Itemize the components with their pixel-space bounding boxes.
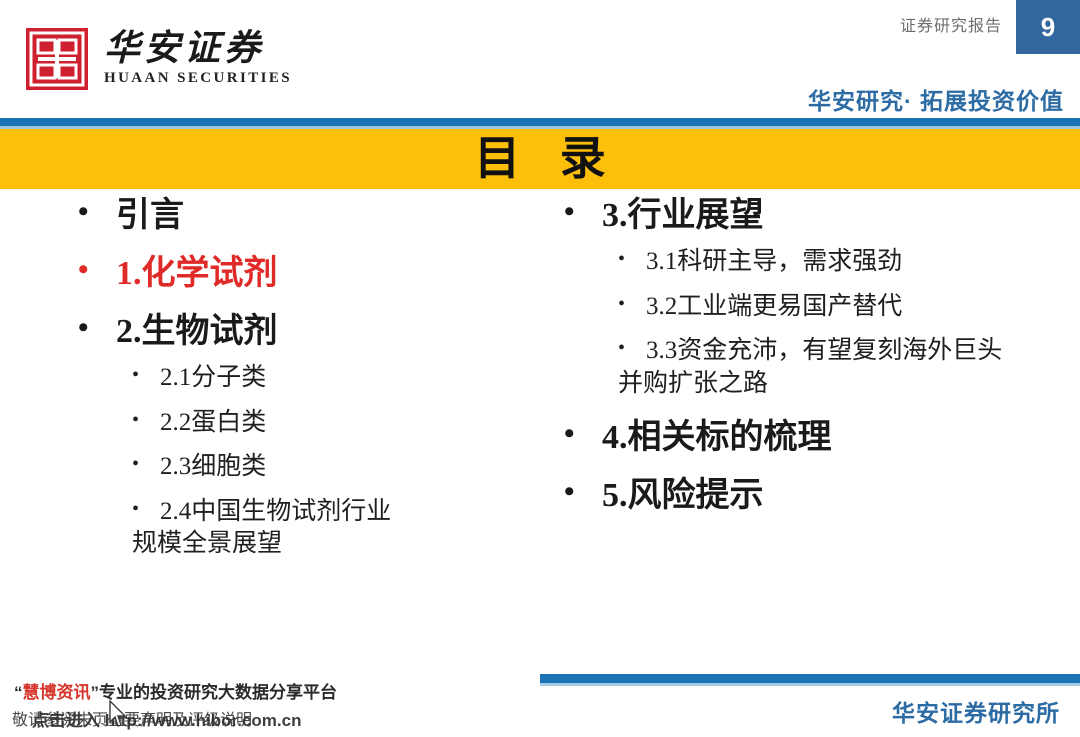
toc-subitem-label: 2.3细胞类 [160,453,266,480]
toc-item-label: 1.化学试剂 [116,255,278,292]
toc-item-label: 5.风险提示 [602,477,764,514]
toc-item-industry-outlook[interactable]: 3.行业展望 3.1科研主导，需求强劲 3.2工业端更易国产替代 3.3资金充沛… [556,196,1066,400]
toc-subitem-label: 2.1分子类 [160,364,266,391]
toc-subitem-industrial-substitution[interactable]: 3.2工业端更易国产替代 [602,291,1066,324]
toc-item-chemical-reagents[interactable]: 1.化学试剂 [70,254,550,294]
toc-item-intro[interactable]: 引言 [70,196,550,236]
toc-subitem-label: 3.2工业端更易国产替代 [646,293,902,320]
page-number-badge: 9 [1016,0,1080,54]
toc-item-label: 2.生物试剂 [116,313,278,350]
toc-sublist-industry-outlook: 3.1科研主导，需求强劲 3.2工业端更易国产替代 3.3资金充沛，有望复刻海外… [602,246,1066,400]
footer-institution: 华安证券研究所 [892,694,1060,728]
mouse-cursor-icon [108,700,128,730]
watermark-quote-close: ” [91,683,100,702]
toc-subitem-molecular[interactable]: 2.1分子类 [116,362,550,395]
slide-root: 华安证券 HUAAN SECURITIES 证券研究报告 9 华安研究· 拓展投… [0,0,1080,737]
toc-list-left: 引言 1.化学试剂 2.生物试剂 2.1分子类 2.2蛋白类 [70,196,550,561]
toc-columns: 引言 1.化学试剂 2.生物试剂 2.1分子类 2.2蛋白类 [0,196,1080,666]
toc-list-right: 3.行业展望 3.1科研主导，需求强劲 3.2工业端更易国产替代 3.3资金充沛… [556,196,1066,516]
watermark-brand-line: “慧博资讯”专业的投资研究大数据分享平台 [14,678,337,703]
logo-company-name-en: HUAAN SECURITIES [104,70,292,87]
toc-subitem-cell[interactable]: 2.3细胞类 [116,451,550,484]
toc-subitem-label-line2: 并购扩张之路 [618,368,1066,401]
page-title: 目 录 [460,136,620,182]
toc-subitem-label: 3.3资金充沛，有望复刻海外巨头 [646,337,1002,364]
toc-right-column: 3.行业展望 3.1科研主导，需求强劲 3.2工业端更易国产替代 3.3资金充沛… [556,196,1066,534]
toc-left-column: 引言 1.化学试剂 2.生物试剂 2.1分子类 2.2蛋白类 [70,196,550,579]
watermark-link[interactable]: 点击进入 http://www.hibor.com.cn [32,706,301,731]
footer-blue-rule [540,674,1080,683]
logo-text-block: 华安证券 HUAAN SECURITIES [104,28,292,87]
toc-item-label: 4.相关标的梳理 [602,419,832,456]
toc-sublist-bio-reagents: 2.1分子类 2.2蛋白类 2.3细胞类 2.4中国生物试剂行业 规模全景展望 [116,362,550,561]
toc-subitem-market-outlook[interactable]: 2.4中国生物试剂行业 规模全景展望 [116,496,550,561]
toc-subitem-label: 3.1科研主导，需求强劲 [646,248,902,275]
logo-company-name-cn: 华安证券 [104,30,292,68]
huaan-seal-logo-icon [26,28,88,90]
company-logo: 华安证券 HUAAN SECURITIES [26,28,292,90]
toc-subitem-label-line2: 规模全景展望 [132,528,550,561]
toc-item-bio-reagents[interactable]: 2.生物试剂 2.1分子类 2.2蛋白类 2.3细胞类 2.4中国生物试剂行业 [70,312,550,561]
toc-item-risk-warning[interactable]: 5.风险提示 [556,476,1066,516]
toc-subitem-research-demand[interactable]: 3.1科研主导，需求强劲 [602,246,1066,279]
brand-slogan: 华安研究· 拓展投资价值 [808,82,1064,116]
toc-item-label: 引言 [116,197,184,234]
toc-subitem-label: 2.2蛋白类 [160,409,266,436]
page-number-value: 9 [1041,14,1055,40]
toc-subitem-capital-ma[interactable]: 3.3资金充沛，有望复刻海外巨头 并购扩张之路 [602,335,1066,400]
toc-item-related-targets[interactable]: 4.相关标的梳理 [556,418,1066,458]
slide-header: 华安证券 HUAAN SECURITIES 证券研究报告 9 华安研究· 拓展投… [0,0,1080,118]
report-type-label: 证券研究报告 [900,12,1002,36]
title-banner: 目 录 [0,129,1080,189]
watermark-tagline: 专业的投资研究大数据分享平台 [99,683,337,702]
watermark-brand: 慧博资讯 [23,683,91,702]
toc-subitem-label: 2.4中国生物试剂行业 [160,498,391,525]
watermark-quote-open: “ [14,683,23,702]
toc-item-label: 3.行业展望 [602,197,764,234]
banner-blue-rule [0,118,1080,126]
toc-subitem-protein[interactable]: 2.2蛋白类 [116,407,550,440]
